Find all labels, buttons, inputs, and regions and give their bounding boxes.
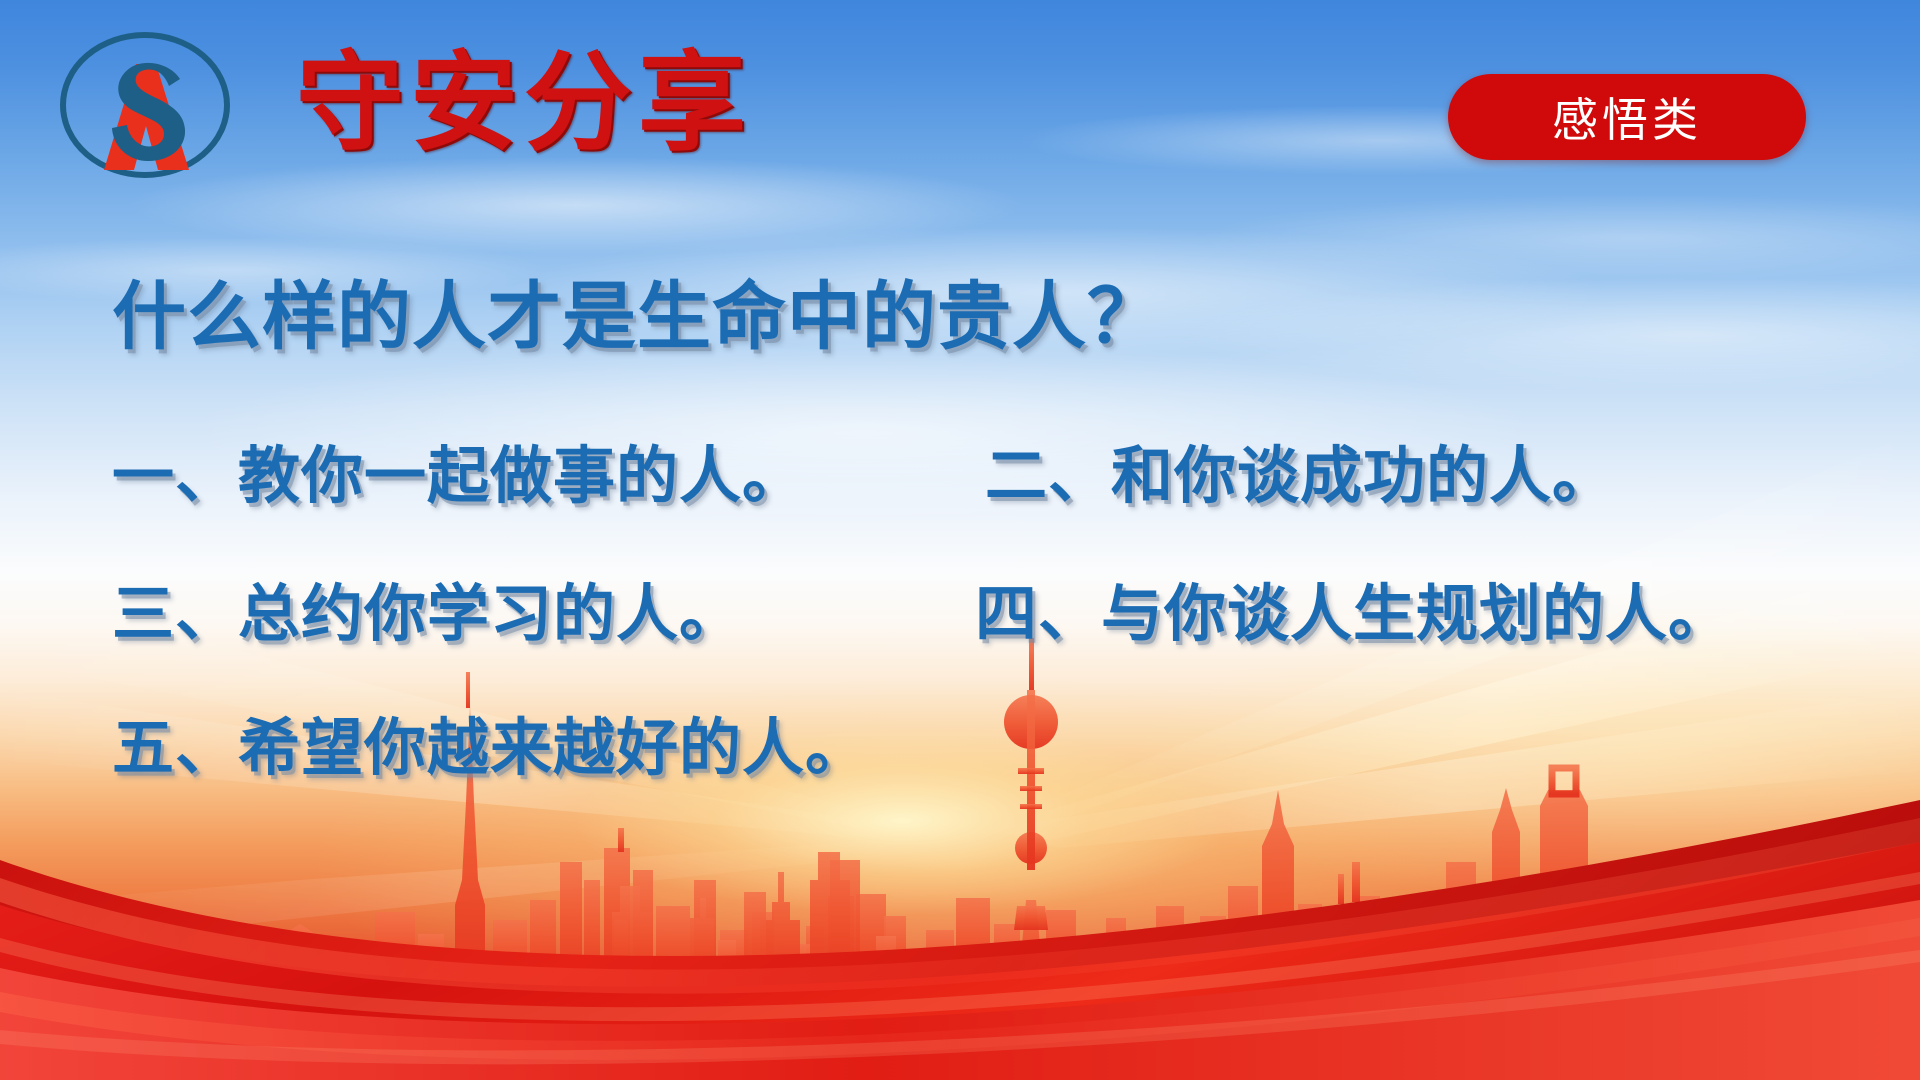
content-area: 什么样的人才是生命中的贵人？ 一、教你一起做事的人。 二、和你谈成功的人。 三、… xyxy=(0,0,1920,1080)
slide-canvas: 守安分享 感悟类 什么样的人才是生命中的贵人？ 一、教你一起做事的人。 二、和你… xyxy=(0,0,1920,1080)
answer-item-2: 二、和你谈成功的人。 xyxy=(985,446,1615,508)
answer-item-4: 四、与你谈人生规划的人。 xyxy=(975,584,1731,646)
answer-item-1: 一、教你一起做事的人。 xyxy=(112,446,805,508)
page-question: 什么样的人才是生命中的贵人？ xyxy=(112,280,1162,354)
answer-item-5: 五、希望你越来越好的人。 xyxy=(112,718,868,780)
answer-item-3: 三、总约你学习的人。 xyxy=(112,584,742,646)
